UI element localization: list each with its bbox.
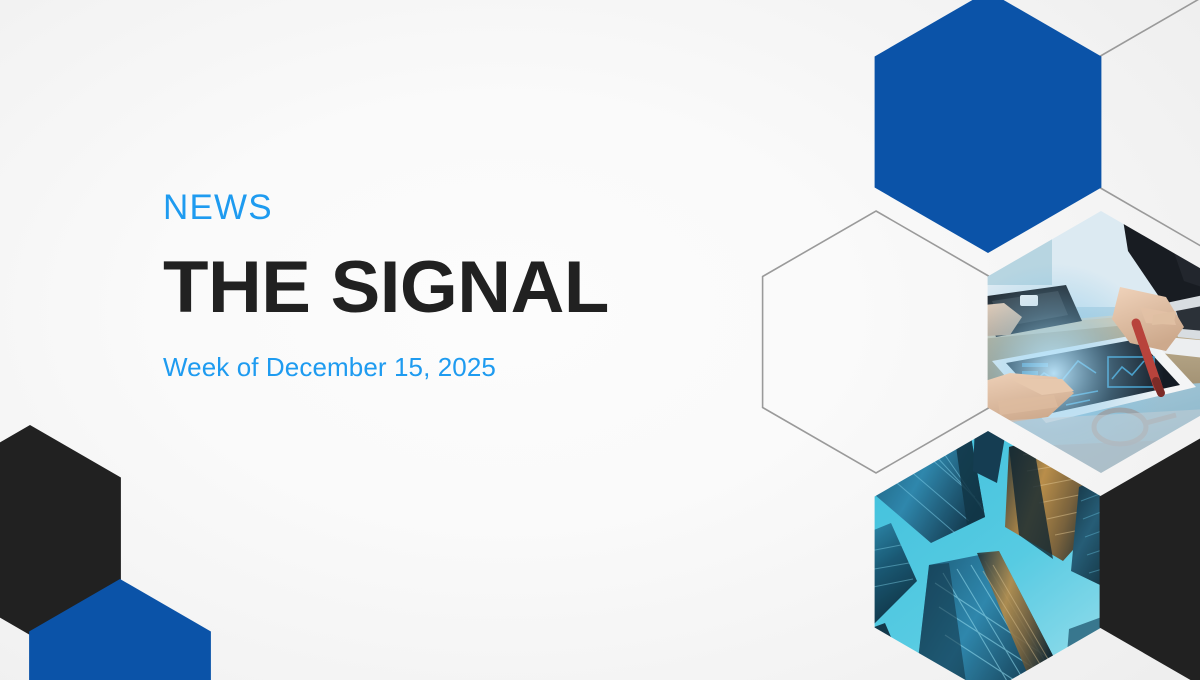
cover-text-block: NEWS THE SIGNAL Week of December 15, 202… — [163, 190, 783, 380]
hex-solid-dark-bottom-right — [1100, 431, 1200, 680]
hex-solid-dark-bottom-left — [0, 425, 121, 635]
newsletter-cover-slide: NEWS THE SIGNAL Week of December 15, 202… — [0, 0, 1200, 680]
dateline-label: Week of December 15, 2025 — [163, 354, 783, 380]
hex-outline-center-right — [763, 211, 990, 473]
hex-photo-business-tablet — [988, 211, 1200, 473]
hex-solid-blue-bottom-left — [29, 579, 211, 680]
page-title: THE SIGNAL — [163, 251, 795, 324]
hex-photo-city-skyscrapers — [875, 431, 1102, 680]
eyebrow-label: NEWS — [163, 190, 783, 225]
hex-outline-bottom-left — [0, 579, 31, 680]
hex-outline-top-right-edge — [1100, 0, 1200, 253]
hex-solid-blue-top-right — [875, 0, 1102, 253]
